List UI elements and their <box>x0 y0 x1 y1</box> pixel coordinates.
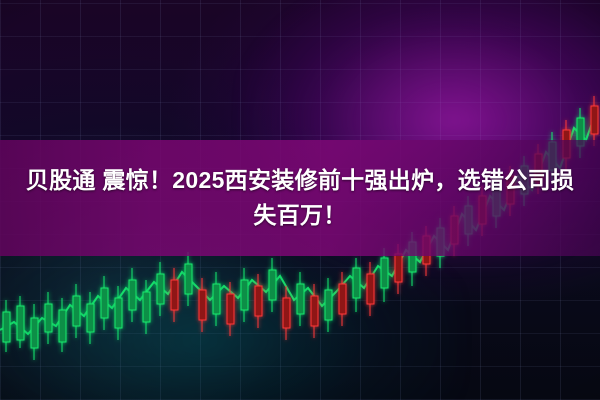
brand-label: 贝股通 <box>26 167 96 193</box>
headline-banner: 贝股通 震惊！2025西安装修前十强出炉，选错公司损失百万！ <box>0 140 600 256</box>
image-canvas: 贝股通 震惊！2025西安装修前十强出炉，选错公司损失百万！ <box>0 0 600 400</box>
headline-text-block: 贝股通 震惊！2025西安装修前十强出炉，选错公司损失百万！ <box>17 163 583 233</box>
headline-label: 震惊！2025西安装修前十强出炉，选错公司损失百万！ <box>102 167 574 228</box>
